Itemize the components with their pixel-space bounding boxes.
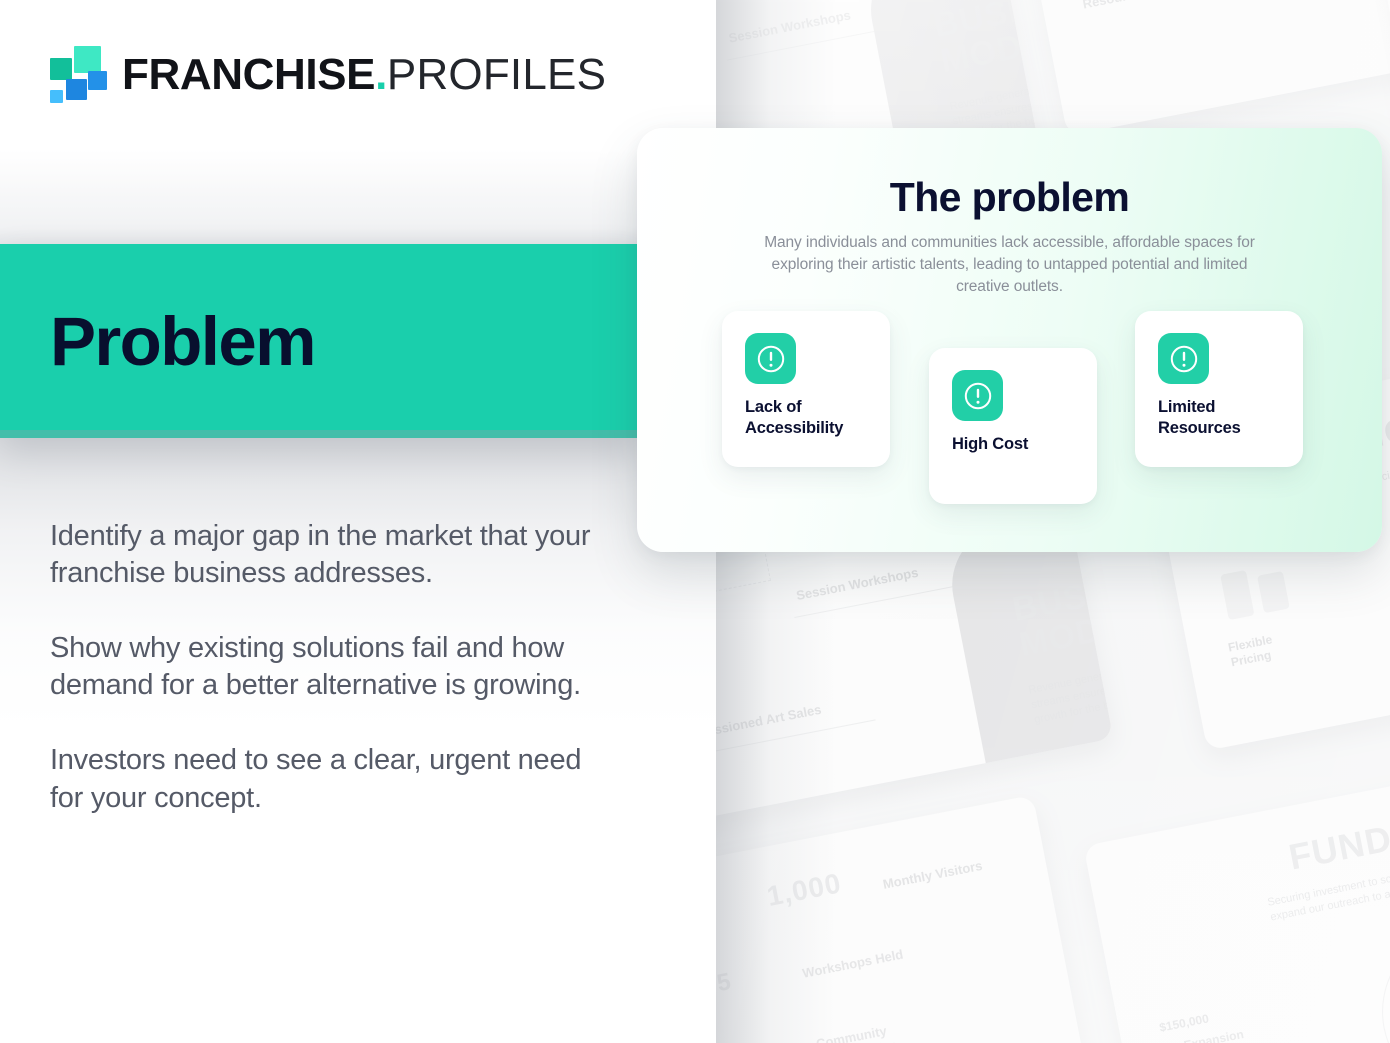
problem-card-label: Lack of Accessibility <box>745 397 876 439</box>
bg-label: Session Workshops <box>727 7 852 45</box>
slide-canvas: FRANCHISE.PROFILES Problem Identify a ma… <box>0 0 1390 1043</box>
brand-word-light: PROFILES <box>387 53 606 97</box>
slide-title: The problem <box>637 174 1382 221</box>
problem-card-label: Limited Resources <box>1158 397 1289 439</box>
bg-donut-chart <box>1367 911 1390 1043</box>
problem-banner: Problem <box>0 244 639 438</box>
bg-label: Flexible Pricing <box>1227 626 1311 671</box>
logo-square-blue-light <box>50 90 63 103</box>
bg-bars-icon <box>1257 571 1290 613</box>
bg-alloc-amount: $150,000 <box>1158 1011 1210 1034</box>
bg-label: Session Workshops <box>795 565 920 603</box>
logo-square-teal-light <box>74 46 101 73</box>
alert-circle-icon <box>952 370 1003 421</box>
bg-heading: FUNDRAISING <box>1285 788 1390 879</box>
brand-word-dot: . <box>375 53 387 97</box>
bg-card-problem: Lack of Accessibility High Cost Limited … <box>1005 0 1390 136</box>
bg-card-traction: 1,000 Monthly Visitors 75 Workshops Held… <box>716 795 1094 1043</box>
bg-metric-label: Workshops Held <box>801 947 904 981</box>
body-copy: Identify a major gap in the market that … <box>50 518 620 817</box>
bg-metric-value: 1,000 <box>764 867 844 913</box>
logo-square-blue-small <box>88 71 107 90</box>
bg-metric-value: 75 <box>716 968 734 1001</box>
left-content-pane: FRANCHISE.PROFILES Problem Identify a ma… <box>0 0 716 1043</box>
alert-circle-icon <box>745 333 796 384</box>
slide-preview-panel[interactable]: The problem Many individuals and communi… <box>637 128 1382 552</box>
alert-circle-icon <box>1158 333 1209 384</box>
brand-wordmark: FRANCHISE.PROFILES <box>122 53 606 97</box>
problem-card-lack-of-accessibility[interactable]: Lack of Accessibility <box>722 311 890 467</box>
body-paragraph-3: Investors need to see a clear, urgent ne… <box>50 742 620 816</box>
page-title: Problem <box>0 307 315 376</box>
bg-bars-icon <box>1220 570 1254 620</box>
problem-card-limited-resources[interactable]: Limited Resources <box>1135 311 1303 467</box>
problem-card-high-cost[interactable]: High Cost <box>929 348 1097 504</box>
bg-label: Limited Resources <box>1078 0 1192 13</box>
body-paragraph-1: Identify a major gap in the market that … <box>50 518 620 592</box>
bg-heading: BUSINESS MODEL <box>931 0 1044 80</box>
logo-square-blue <box>66 79 87 100</box>
bg-metric-label: Community Partnerships <box>815 1018 915 1043</box>
five-squares-logo-mark <box>48 46 106 104</box>
bg-card-fundraising: FUNDRAISING Securing investment to scale… <box>1083 756 1390 1043</box>
logo-square-teal-dark <box>50 58 72 80</box>
problem-card-label: High Cost <box>952 434 1083 455</box>
slide-subtitle: Many individuals and communities lack ac… <box>750 232 1270 298</box>
brand-word-bold: FRANCHISE <box>122 53 375 97</box>
brand-logo[interactable]: FRANCHISE.PROFILES <box>48 46 606 104</box>
problem-cards: Lack of Accessibility High Cost <box>637 298 1382 528</box>
bg-metric-label: Monthly Visitors <box>882 858 984 892</box>
top-shadow-gradient <box>0 150 716 250</box>
body-paragraph-2: Show why existing solutions fail and how… <box>50 630 620 704</box>
